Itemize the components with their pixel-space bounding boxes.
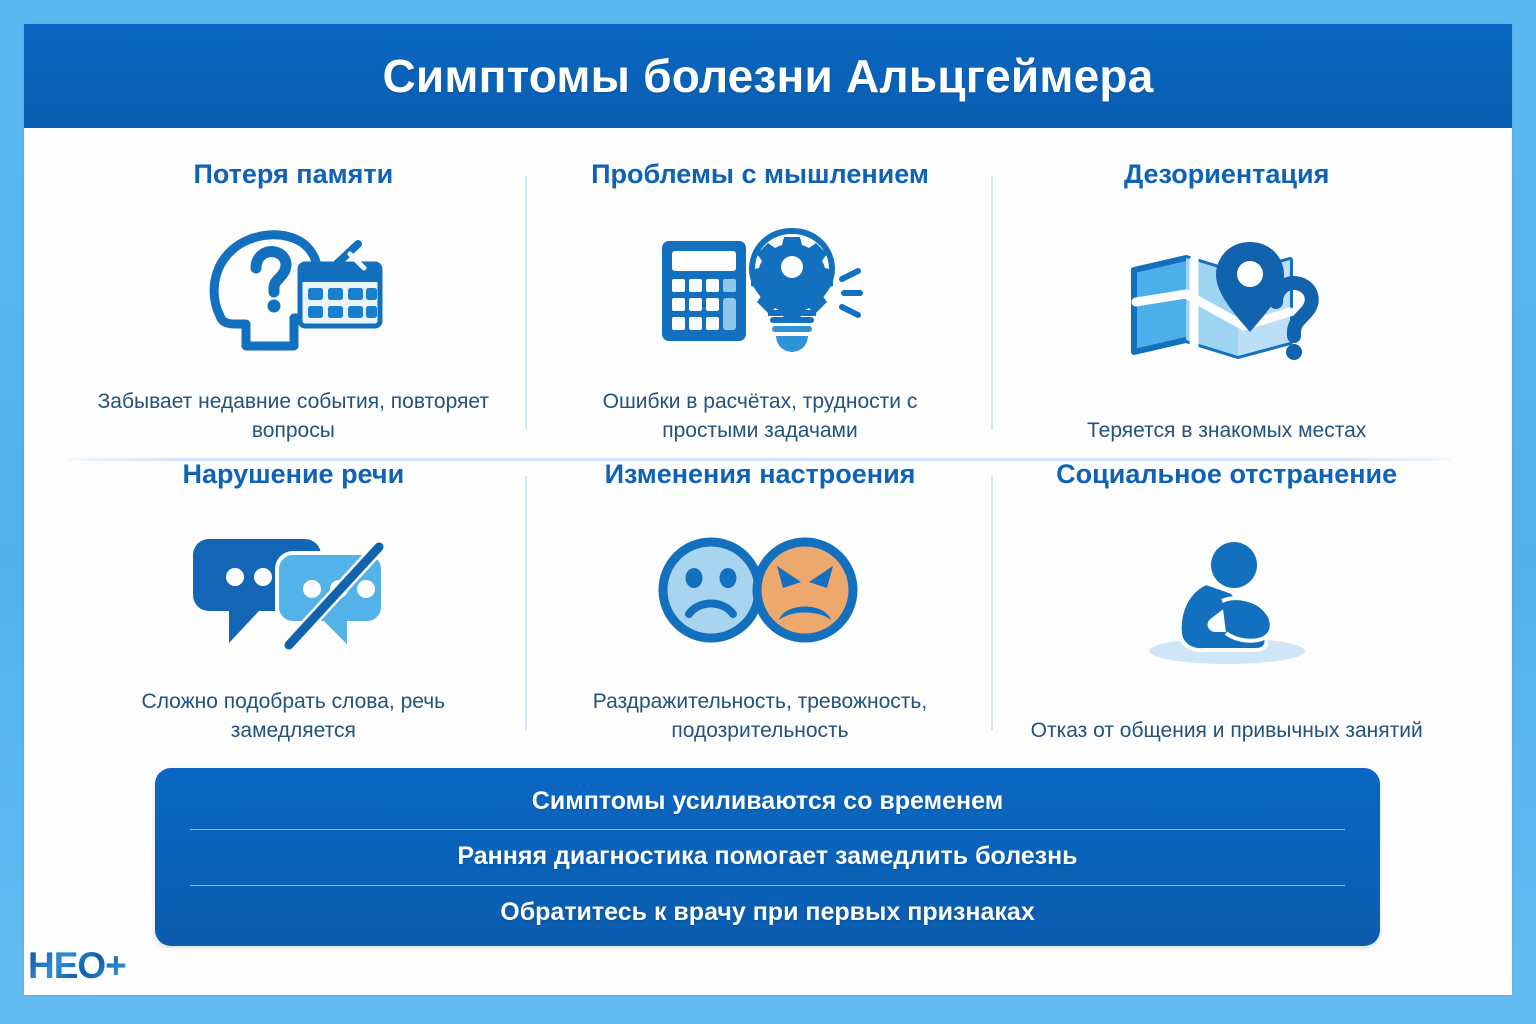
infographic-poster: Симптомы болезни Альцгеймера Потеря памя… xyxy=(0,0,1536,1024)
sad-angry-faces-icon xyxy=(655,496,865,684)
key-message-bold-1: со временем xyxy=(843,787,1003,815)
key-message-bold-2: замедлить болезнь xyxy=(835,842,1078,870)
symptom-title: Проблемы с мышлением xyxy=(591,160,929,190)
symptom-description: Теряется в знакомых местах xyxy=(1087,417,1366,446)
head-question-calendar-icon xyxy=(198,196,388,384)
key-messages-panel: Симптомы усиливаются со временем Ранняя … xyxy=(155,768,1380,946)
symptom-description: Сложно подобрать слова, речь замедляется xyxy=(93,688,493,746)
key-message-bold-3: к врачу xyxy=(654,898,746,926)
symptom-title: Нарушение речи xyxy=(182,460,404,490)
calculator-lightbulb-gear-icon xyxy=(656,196,864,384)
symptom-title: Изменения настроения xyxy=(605,460,916,490)
symptom-card-memory-loss[interactable]: Потеря памяти xyxy=(60,150,527,450)
key-message-plain-3: Обратитесь xyxy=(500,898,654,926)
symptom-title: Дезориентация xyxy=(1124,160,1329,190)
brand-watermark-logo: НЕО+ xyxy=(28,947,126,984)
key-message-plain-2: Ранняя диагностика помогает xyxy=(457,842,835,870)
symptom-description: Ошибки в расчётах, трудности с простыми … xyxy=(560,388,960,446)
person-sitting-alone-icon xyxy=(1132,496,1322,713)
header-bar: Симптомы болезни Альцгеймера xyxy=(24,24,1512,128)
key-message-text-2: Ранняя диагностика помогает замедлить бо… xyxy=(457,842,1077,871)
key-message-text-3: Обратитесь к врачу при первых признаках xyxy=(500,898,1034,927)
symptom-grid: Потеря памяти xyxy=(60,150,1460,750)
key-message-row: Ранняя диагностика помогает замедлить бо… xyxy=(155,829,1380,884)
symptom-card-thinking-problems[interactable]: Проблемы с мышлением xyxy=(527,150,994,450)
symptom-card-mood-changes[interactable]: Изменения настроения Раздражительность, … xyxy=(527,450,994,750)
key-message-tail-3: при первых признаках xyxy=(746,898,1035,926)
row-divider xyxy=(68,458,1450,461)
key-message-row: Симптомы усиливаются со временем xyxy=(155,774,1380,829)
symptom-card-disorientation[interactable]: Дезориентация xyxy=(993,150,1460,450)
symptom-description: Раздражительность, тревожность, подозрит… xyxy=(560,688,960,746)
page-title: Симптомы болезни Альцгеймера xyxy=(382,49,1153,103)
symptom-description: Забывает недавние события, повторяет воп… xyxy=(93,388,493,446)
symptom-description: Отказ от общения и привычных занятий xyxy=(1031,717,1423,746)
key-message-row: Обратитесь к врачу при первых признаках xyxy=(155,885,1380,940)
symptom-card-speech-disorder[interactable]: Нарушение речи xyxy=(60,450,527,750)
symptom-title: Социальное отстранение xyxy=(1056,460,1397,490)
map-pin-question-icon xyxy=(1124,196,1330,413)
key-message-text-1: Симптомы усиливаются со временем xyxy=(532,787,1003,816)
symptom-card-social-withdrawal[interactable]: Социальное отстранение Отказ от общения … xyxy=(993,450,1460,750)
key-message-plain-1: Симптомы усиливаются xyxy=(532,787,844,815)
symptom-title: Потеря памяти xyxy=(193,160,393,190)
speech-bubbles-crossed-icon xyxy=(193,496,393,684)
